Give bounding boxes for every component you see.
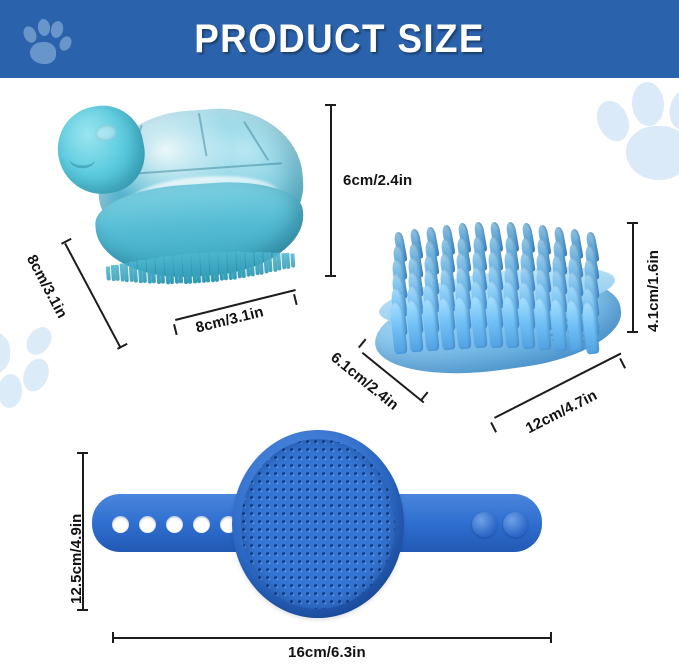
dimension-cap-p2-height-top: [627, 222, 638, 224]
dimension-cap-p2-width-start: [358, 338, 366, 348]
product-size-infographic: PRODUCT SIZE 6cm/2.4in: [0, 0, 679, 666]
paw-print-icon-mid-left: [0, 322, 68, 414]
dimension-cap-p3-height-top: [77, 452, 88, 454]
dimension-label-p3-width: 16cm/6.3in: [288, 644, 366, 661]
dimension-label-p1-height: 6cm/2.4in: [343, 172, 412, 189]
dimension-label-p2-height: 4.1cm/1.6in: [645, 250, 662, 332]
dimension-cap-p3-height-bottom: [77, 609, 88, 611]
dimension-cap-p1-height-top: [325, 104, 336, 106]
dimension-label-p1-bottom: 8cm/3.1in: [194, 303, 265, 336]
strap-hole: [166, 516, 183, 533]
dimension-cap-p1-height-bottom: [325, 275, 336, 277]
dimension-cap-p1-bottom-start: [173, 324, 177, 335]
strap-snap-button: [472, 512, 497, 537]
brush-nub-surface: [241, 439, 395, 609]
strap-hole: [193, 516, 210, 533]
dimension-line-p2-height: [632, 222, 634, 332]
paw-print-icon-top-right: [592, 82, 679, 190]
header-banner: PRODUCT SIZE: [0, 0, 679, 78]
strap-snap-button: [503, 512, 528, 537]
turtle-eye: [94, 123, 118, 143]
dimension-label-p3-height: 12.5cm/4.9in: [68, 514, 85, 604]
dimension-cap-p2-width-end: [420, 391, 428, 401]
dimension-cap-p3-width-left: [112, 632, 114, 643]
page-title: PRODUCT SIZE: [27, 0, 652, 78]
dimension-cap-p3-width-right: [550, 632, 552, 643]
brush-oval-pad: [232, 430, 404, 618]
brush-silicone-pins: [368, 198, 628, 348]
dimension-line-p3-width: [112, 637, 551, 639]
product-oval-hand-brush: [92, 428, 542, 618]
dimension-cap-p2-height-bottom: [627, 331, 638, 333]
strap-hole: [112, 516, 129, 533]
product-silicone-bristle-brush: [368, 198, 628, 388]
dimension-cap-p1-bottom-end: [293, 294, 297, 305]
dimension-line-p1-height: [330, 104, 332, 276]
strap-hole: [139, 516, 156, 533]
turtle-smile: [69, 149, 96, 169]
product-turtle-bath-brush: [58, 98, 303, 288]
